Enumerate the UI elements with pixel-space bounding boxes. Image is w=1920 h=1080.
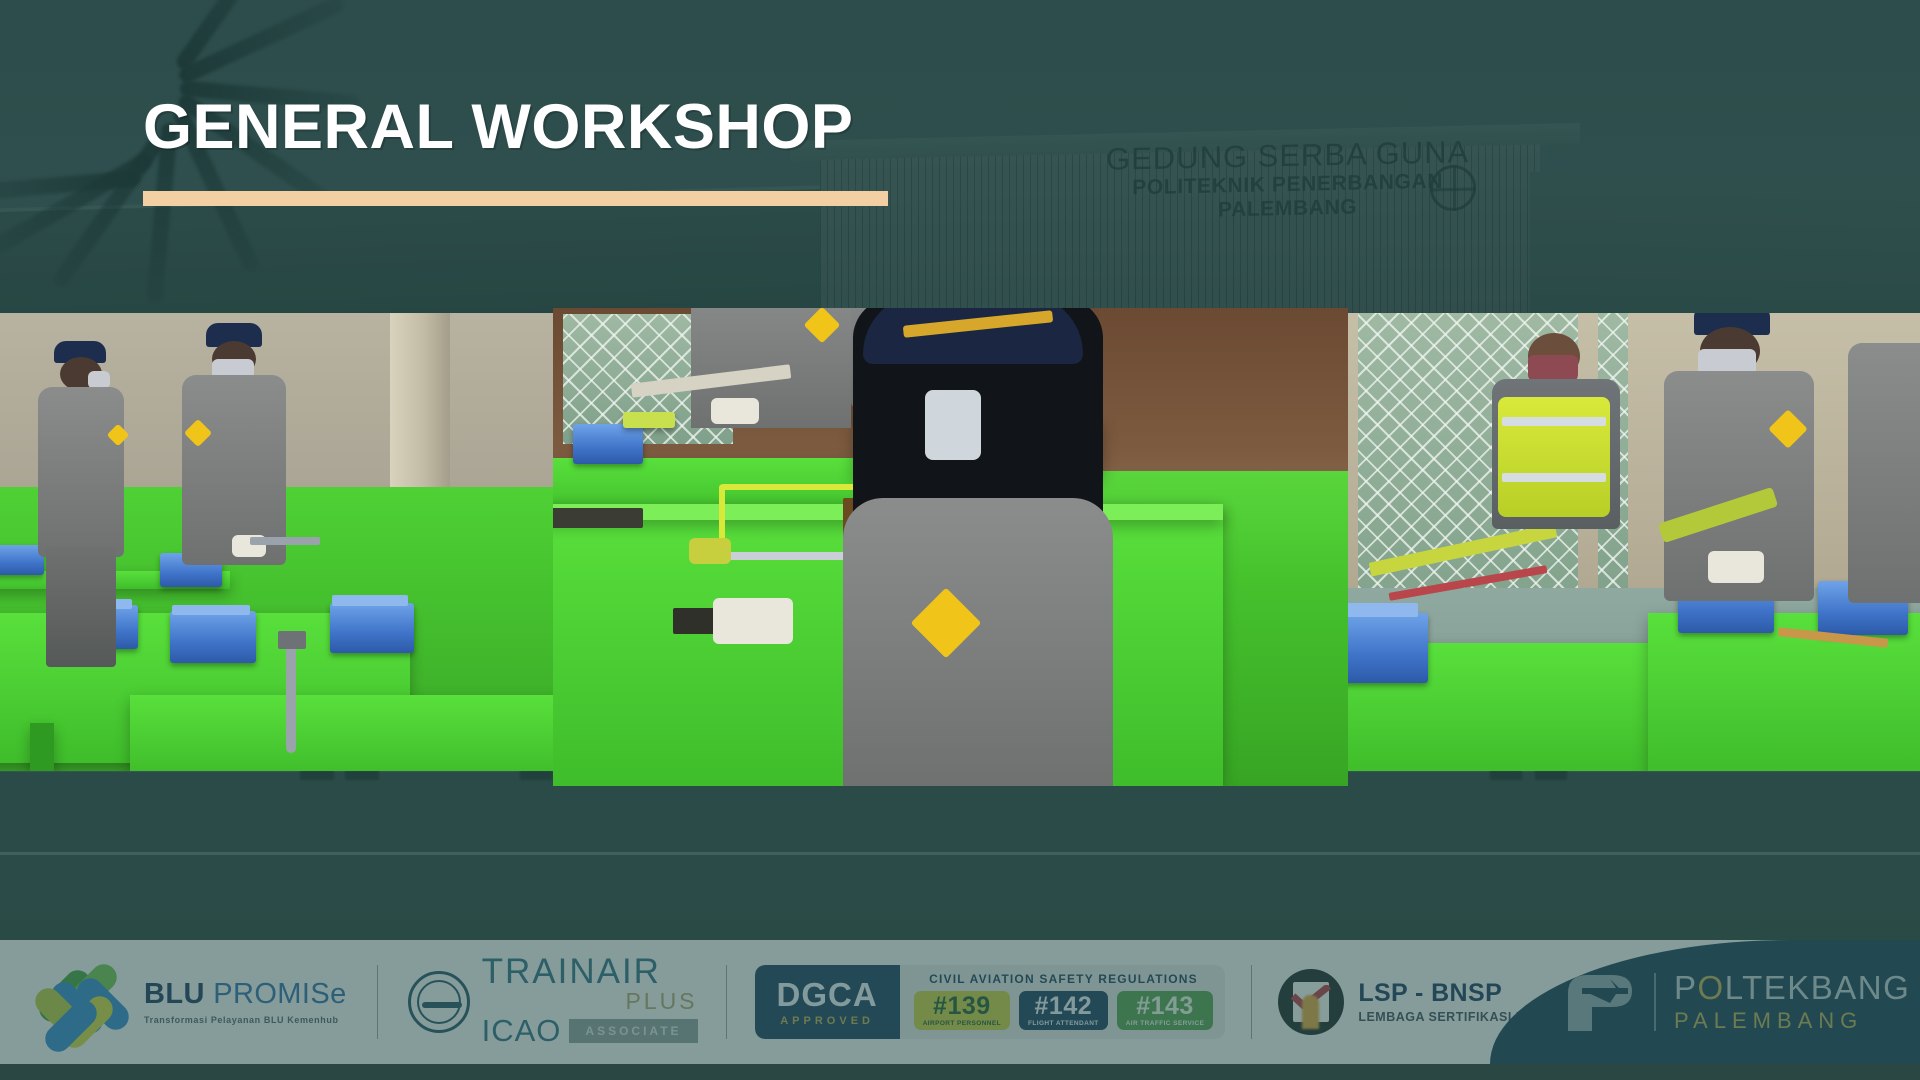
casr-badge-142: #142 FLIGHT ATTENDANT [1019,991,1108,1030]
workshop-photo-1 [0,313,553,771]
trainair-level-badge: ASSOCIATE [569,1019,697,1043]
poltekbang-name-o: O [1698,969,1725,1006]
casr-badge-142-label: FLIGHT ATTENDANT [1028,1020,1099,1027]
title-underline-rule [143,191,888,206]
trainair-plus-label: PLUS [482,988,698,1015]
casr-badge-143-number: #143 [1136,993,1194,1019]
icao-label: ICAO [482,1013,562,1049]
page-title: GENERAL WORKSHOP [143,96,888,159]
blu-promise-pinwheel-icon [46,961,128,1043]
lsp-bnsp-seal-icon [1278,969,1344,1035]
casr-badge-list: #139 AIRPORT PERSONNEL #142 FLIGHT ATTEN… [914,991,1214,1030]
footer-bottom-strip [0,1064,1920,1080]
casr-badge-143-label: AIR TRAFFIC SERVICE [1126,1020,1205,1027]
footer-divider-2 [726,965,727,1039]
casr-badge-139-number: #139 [933,993,991,1019]
poltekbang-name-rest: LTEKBANG [1725,969,1911,1006]
casr-title: CIVIL AVIATION SAFETY REGULATIONS [929,972,1198,986]
casr-badge-142-number: #142 [1035,993,1093,1019]
poltekbang-city: PALEMBANG [1674,1008,1910,1034]
dgca-approved-label: APPROVED [780,1015,874,1027]
logo-dgca-approved: DGCA APPROVED CIVIL AVIATION SAFETY REGU… [755,940,1226,1064]
blu-promise-name-bold: BLU [144,978,205,1010]
poltekbang-name-p: P [1674,969,1698,1006]
logo-blu-promise: BLU PROMISe Transformasi Pelayanan BLU K… [0,940,347,1064]
blu-promise-tagline: Transformasi Pelayanan BLU Kemenhub [144,1015,347,1025]
workshop-photo-3 [1348,313,1920,771]
footer-divider-3 [1251,965,1252,1039]
blu-promise-name-light: PROMISe [205,978,347,1010]
photo-strip [0,308,1920,768]
poltekbang-divider [1654,973,1656,1031]
workshop-photo-2 [553,308,1348,786]
footer-divider-1 [377,965,378,1039]
casr-badge-139: #139 AIRPORT PERSONNEL [914,991,1010,1030]
logo-trainair-plus: TRAINAIR PLUS ICAO ASSOCIATE [408,940,698,1064]
dgca-word: DGCA [777,978,878,1011]
trainair-brand: TRAINAIR [482,955,698,988]
casr-badge-139-label: AIRPORT PERSONNEL [923,1020,1001,1027]
casr-badge-143: #143 AIR TRAFFIC SERVICE [1117,991,1214,1030]
title-block: GENERAL WORKSHOP [143,96,888,206]
icao-seal-icon [408,971,470,1033]
poltekbang-plane-mark-icon [1562,971,1636,1033]
